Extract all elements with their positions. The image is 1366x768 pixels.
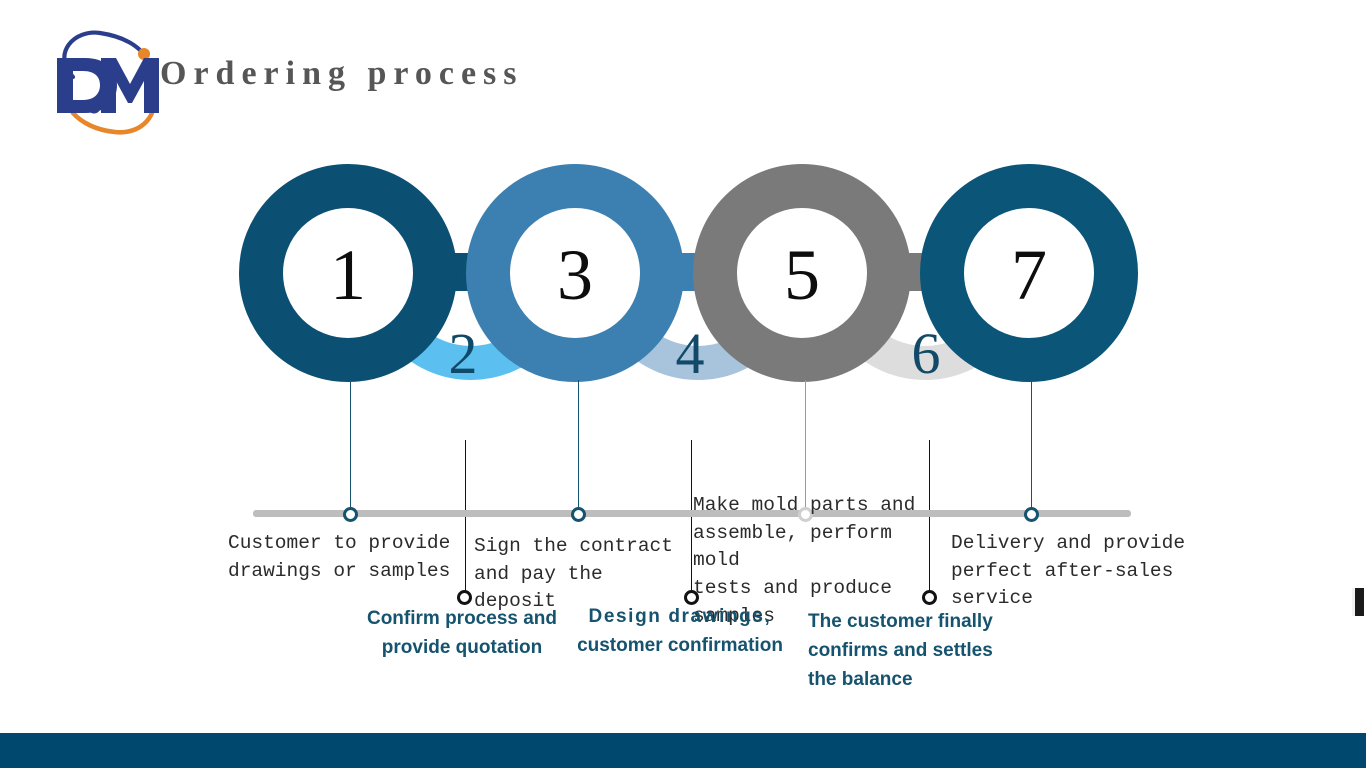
step-number-1: 1 (283, 239, 413, 311)
caption-line: confirms and settles (808, 637, 1023, 666)
connector-line-3 (578, 380, 579, 514)
caption-line: Design drawings, (569, 603, 791, 632)
caption-line: the balance (808, 666, 1023, 695)
step-number-4: 4 (661, 325, 719, 383)
step-number-7: 7 (964, 239, 1094, 311)
step-circle-5[interactable]: 5 (693, 164, 911, 382)
step-circle-3[interactable]: 3 (466, 164, 684, 382)
caption-line: Confirm process and (362, 605, 562, 634)
step-circle-1[interactable]: 1 (239, 164, 457, 382)
caption-line: customer confirmation (569, 632, 791, 661)
step-marker-3[interactable] (571, 507, 586, 522)
step-caption-2: Confirm process and provide quotation (362, 605, 562, 663)
timeline-axis (253, 510, 1131, 517)
caption-line: provide quotation (362, 634, 562, 663)
connector-line-4 (691, 440, 692, 595)
caption-line: drawings or samples (228, 558, 468, 586)
step-caption-1: Customer to provide drawings or samples (228, 530, 468, 585)
connector-line-1 (350, 380, 351, 514)
caption-line: Delivery and provide (951, 530, 1201, 558)
right-edge-scroll-artifact[interactable] (1355, 588, 1364, 616)
step-marker-2[interactable] (457, 590, 472, 605)
caption-line: perfect after-sales (951, 558, 1201, 586)
step-caption-7: Delivery and provide perfect after-sales… (951, 530, 1201, 613)
caption-line: Sign the contract (474, 533, 686, 561)
caption-line: The customer finally (808, 608, 1023, 637)
step-number-6: 6 (897, 325, 955, 383)
slide-canvas: Ordering process (0, 0, 1366, 768)
caption-line: assemble, perform mold (693, 520, 938, 575)
footer-bar (0, 733, 1366, 768)
caption-line: Customer to provide (228, 530, 468, 558)
step-number-5: 5 (737, 239, 867, 311)
step-marker-7[interactable] (1024, 507, 1039, 522)
step-number-2: 2 (434, 325, 492, 383)
process-diagram: 1 3 5 7 2 4 6 Custo (0, 0, 1366, 768)
connector-line-7 (1031, 380, 1032, 514)
step-number-3: 3 (510, 239, 640, 311)
step-caption-6: The customer finally confirms and settle… (808, 608, 1023, 695)
caption-line: tests and produce (693, 575, 938, 603)
step-caption-4: Design drawings, customer confirmation (569, 603, 791, 661)
step-marker-1[interactable] (343, 507, 358, 522)
caption-line: Make mold parts and (693, 492, 938, 520)
